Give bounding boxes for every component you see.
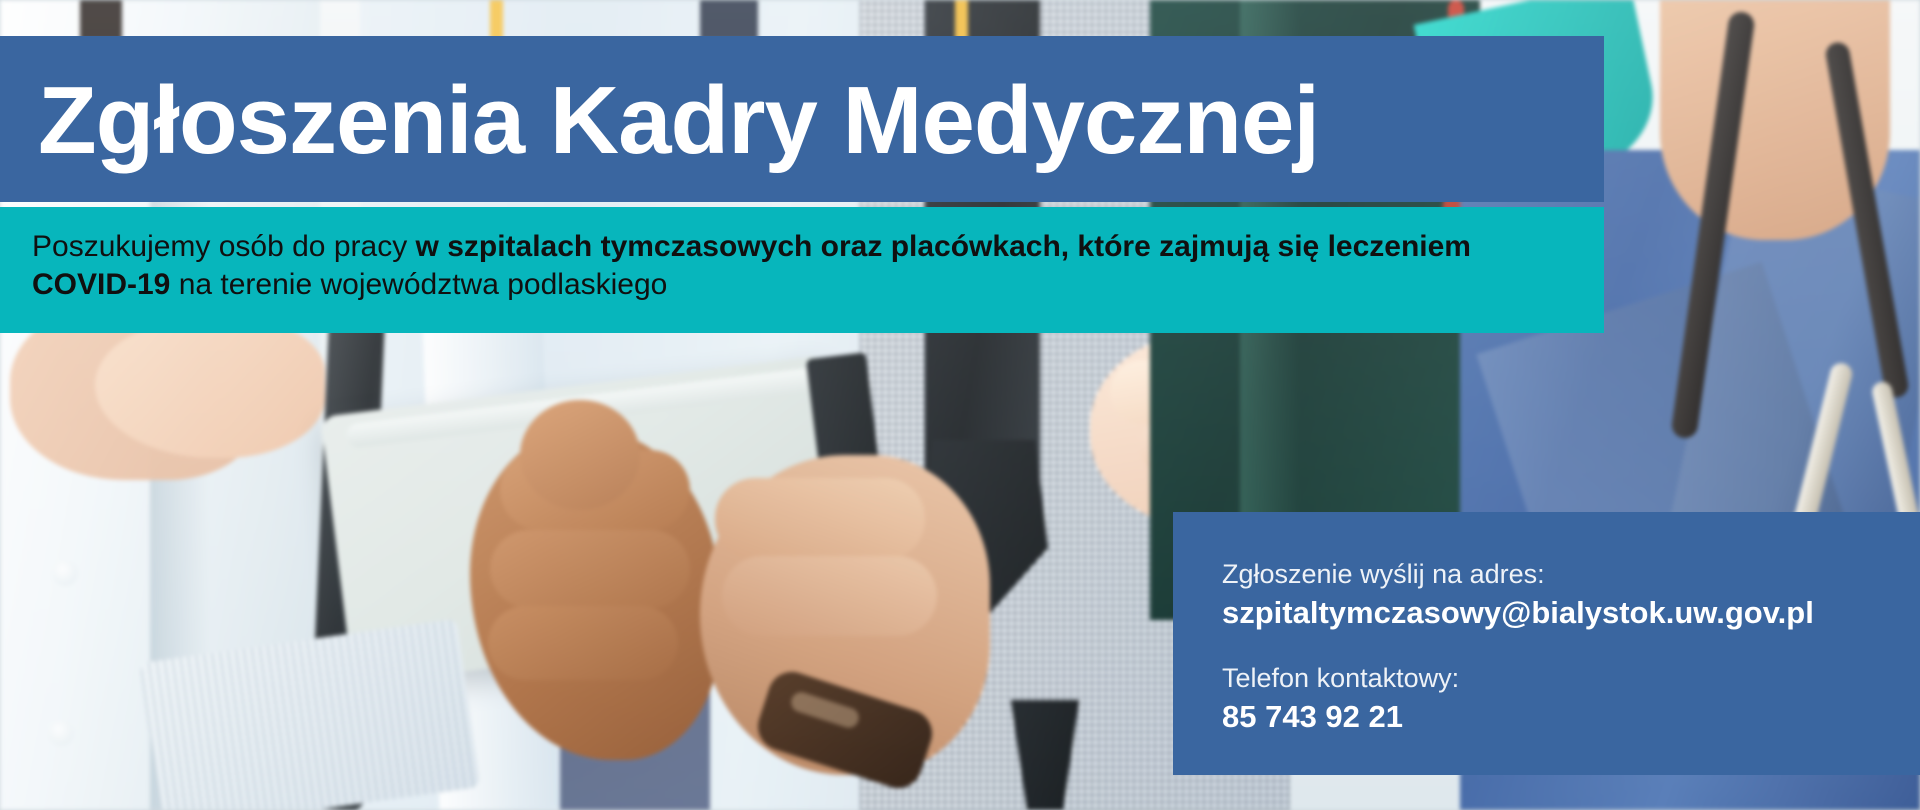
phone-label: Telefon kontaktowy: — [1222, 660, 1920, 696]
subtitle-text: Poszukujemy osób do pracy w szpitalach t… — [32, 228, 1572, 304]
contact-details: Zgłoszenie wyślij na adres: szpitaltymcz… — [1222, 556, 1920, 738]
poster-banner: Zgłoszenia Kadry Medycznej Poszukujemy o… — [0, 0, 1920, 810]
subtitle-line2-plain: na terenie województwa podlaskiego — [170, 268, 667, 301]
page-title: Zgłoszenia Kadry Medycznej — [38, 46, 1578, 196]
email-label: Zgłoszenie wyślij na adres: — [1222, 556, 1920, 592]
contact-spacer — [1222, 634, 1920, 660]
phone-number[interactable]: 85 743 92 21 — [1222, 696, 1920, 738]
subtitle-line1-plain: Poszukujemy osób do pracy — [32, 230, 416, 263]
subtitle-line1-bold: w szpitalach tymczasowych oraz placówkac… — [416, 230, 1320, 263]
email-address[interactable]: szpitaltymczasowy@bialystok.uw.gov.pl — [1222, 592, 1920, 634]
